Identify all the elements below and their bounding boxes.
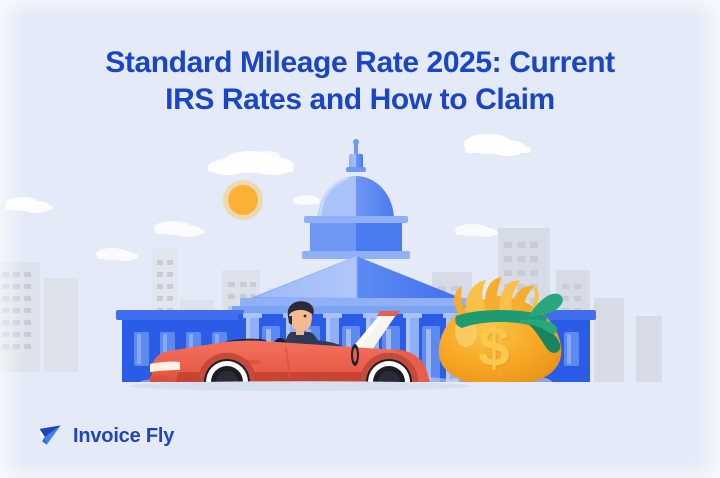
sun-icon: [223, 180, 263, 220]
steering-wheel: [351, 344, 359, 366]
dome-drum-light: [310, 220, 356, 254]
page-title-line-1: Standard Mileage Rate 2025: Current: [0, 44, 720, 81]
pediment-base: [240, 298, 472, 307]
brand-logo[interactable]: Invoice Fly: [36, 422, 174, 450]
page-title: Standard Mileage Rate 2025: Current IRS …: [0, 44, 720, 118]
svg-text:$: $: [478, 315, 509, 378]
cloud-icon: [256, 151, 280, 161]
page-title-line-2: IRS Rates and How to Claim: [0, 81, 720, 118]
car-contact-shadow: [130, 381, 470, 391]
dome-cornice: [304, 216, 408, 223]
paper-plane-icon: [36, 422, 64, 450]
illustration-canvas: $ $: [0, 120, 720, 405]
banner: Standard Mileage Rate 2025: Current IRS …: [0, 0, 720, 478]
hero-illustration: $ $: [0, 120, 720, 405]
driver-eye: [304, 315, 307, 318]
entablature: [232, 306, 480, 315]
car-bumper: [150, 375, 168, 381]
dollar-sign-icon: $ $: [478, 315, 511, 380]
logo-wordmark: Invoice Fly: [73, 426, 174, 446]
